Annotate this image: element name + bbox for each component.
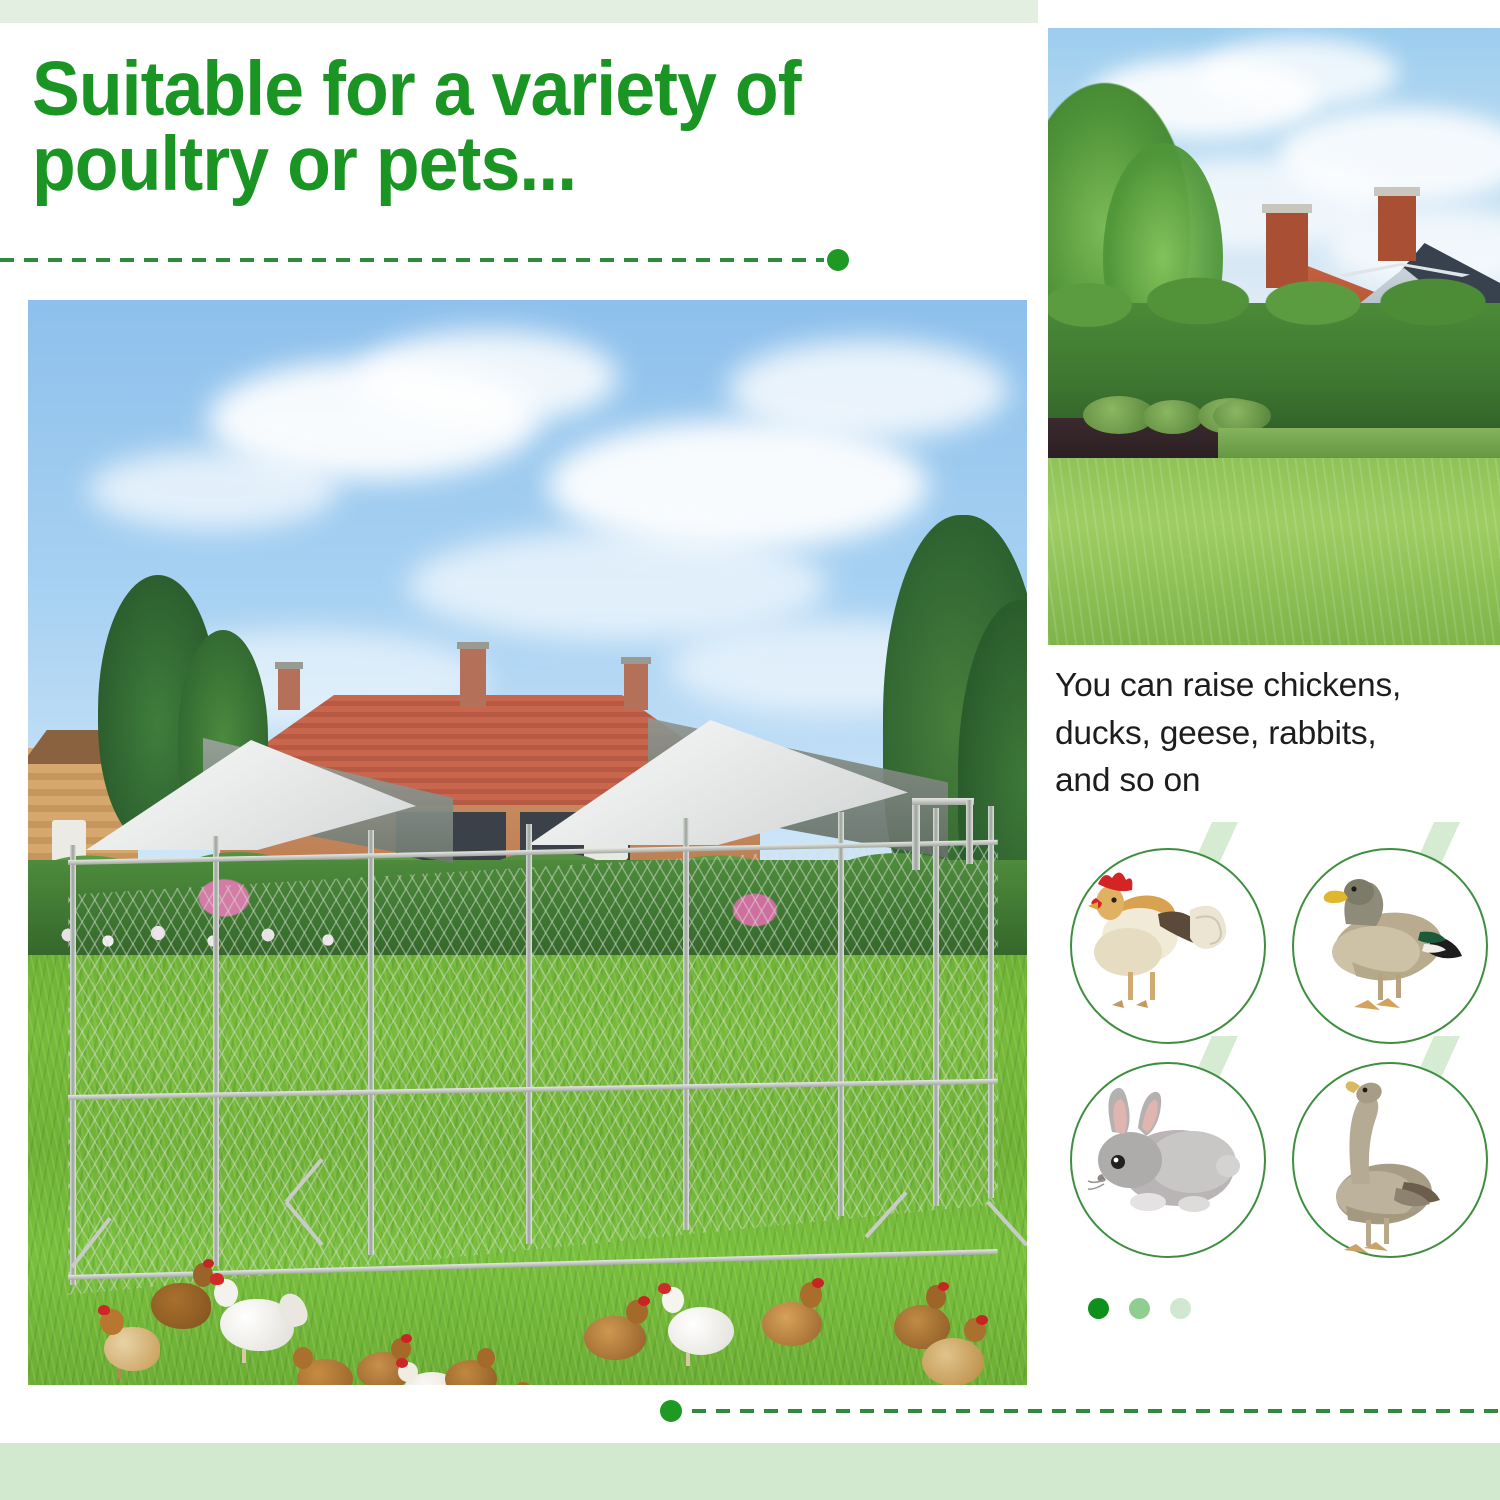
duck-icon	[1292, 848, 1488, 1044]
chicken	[470, 1382, 536, 1385]
frame-post	[683, 818, 689, 1230]
animal-icon-goose[interactable]	[1292, 1062, 1488, 1258]
animal-icon-chicken[interactable]	[1070, 848, 1266, 1044]
chimney	[1266, 208, 1308, 288]
animal-icons-grid	[1070, 848, 1490, 1266]
backyard-lawn-photo	[1048, 28, 1500, 645]
bottom-rule-dot	[660, 1400, 682, 1422]
mown-lawn	[1048, 458, 1500, 645]
chimney	[1378, 191, 1416, 261]
rooster	[208, 1275, 304, 1367]
frame-post	[933, 808, 939, 1206]
top-divider-rule	[0, 253, 860, 267]
page-title: Suitable for a variety of poultry or pet…	[32, 52, 925, 203]
top-rule-dot	[827, 249, 849, 271]
chicken	[443, 1348, 501, 1385]
chicken-coop-structure	[28, 300, 1027, 1385]
cloud	[1198, 38, 1398, 108]
chicken	[143, 1263, 215, 1341]
door-frame-post	[912, 800, 920, 870]
chimney-cap	[1374, 187, 1420, 196]
chimney-cap	[1262, 204, 1312, 213]
frame-post	[838, 812, 844, 1216]
chicken	[918, 1318, 990, 1385]
bottom-accent-band	[0, 1443, 1500, 1500]
door-frame-post	[966, 800, 973, 864]
chicken	[758, 1282, 828, 1352]
wire-mesh-wall	[68, 840, 998, 1295]
frame-post	[368, 830, 374, 1255]
top-dashed-line	[0, 258, 824, 262]
frame-post	[70, 845, 76, 1285]
animal-icon-rabbit[interactable]	[1070, 1062, 1266, 1258]
rabbit-icon	[1070, 1062, 1266, 1258]
carousel-dot-inactive[interactable]	[1129, 1298, 1150, 1319]
product-feature-page: Suitable for a variety of poultry or pet…	[0, 0, 1500, 1500]
hero-product-photo	[28, 300, 1027, 1385]
top-accent-band	[0, 0, 1038, 23]
bottom-dashed-line	[692, 1409, 1500, 1413]
bottom-divider-rule	[660, 1404, 1500, 1418]
frame-post	[213, 836, 219, 1266]
carousel-dot-active[interactable]	[1088, 1298, 1109, 1319]
carousel-dot-inactive[interactable]	[1170, 1298, 1191, 1319]
frame-post	[526, 824, 532, 1244]
trimmed-bush	[1143, 400, 1203, 434]
chicken	[293, 1345, 357, 1385]
animal-icon-duck[interactable]	[1292, 848, 1488, 1044]
frame-post	[988, 806, 994, 1198]
chicken	[580, 1300, 654, 1366]
door-frame-rail	[912, 798, 974, 805]
chicken-icon	[1070, 848, 1266, 1044]
corner-brace	[987, 1201, 1027, 1247]
goose-icon	[1292, 1062, 1488, 1258]
carousel-dots[interactable]	[1088, 1298, 1218, 1322]
body-copy: You can raise chickens, ducks, geese, ra…	[1055, 662, 1485, 805]
rooster	[658, 1285, 744, 1367]
